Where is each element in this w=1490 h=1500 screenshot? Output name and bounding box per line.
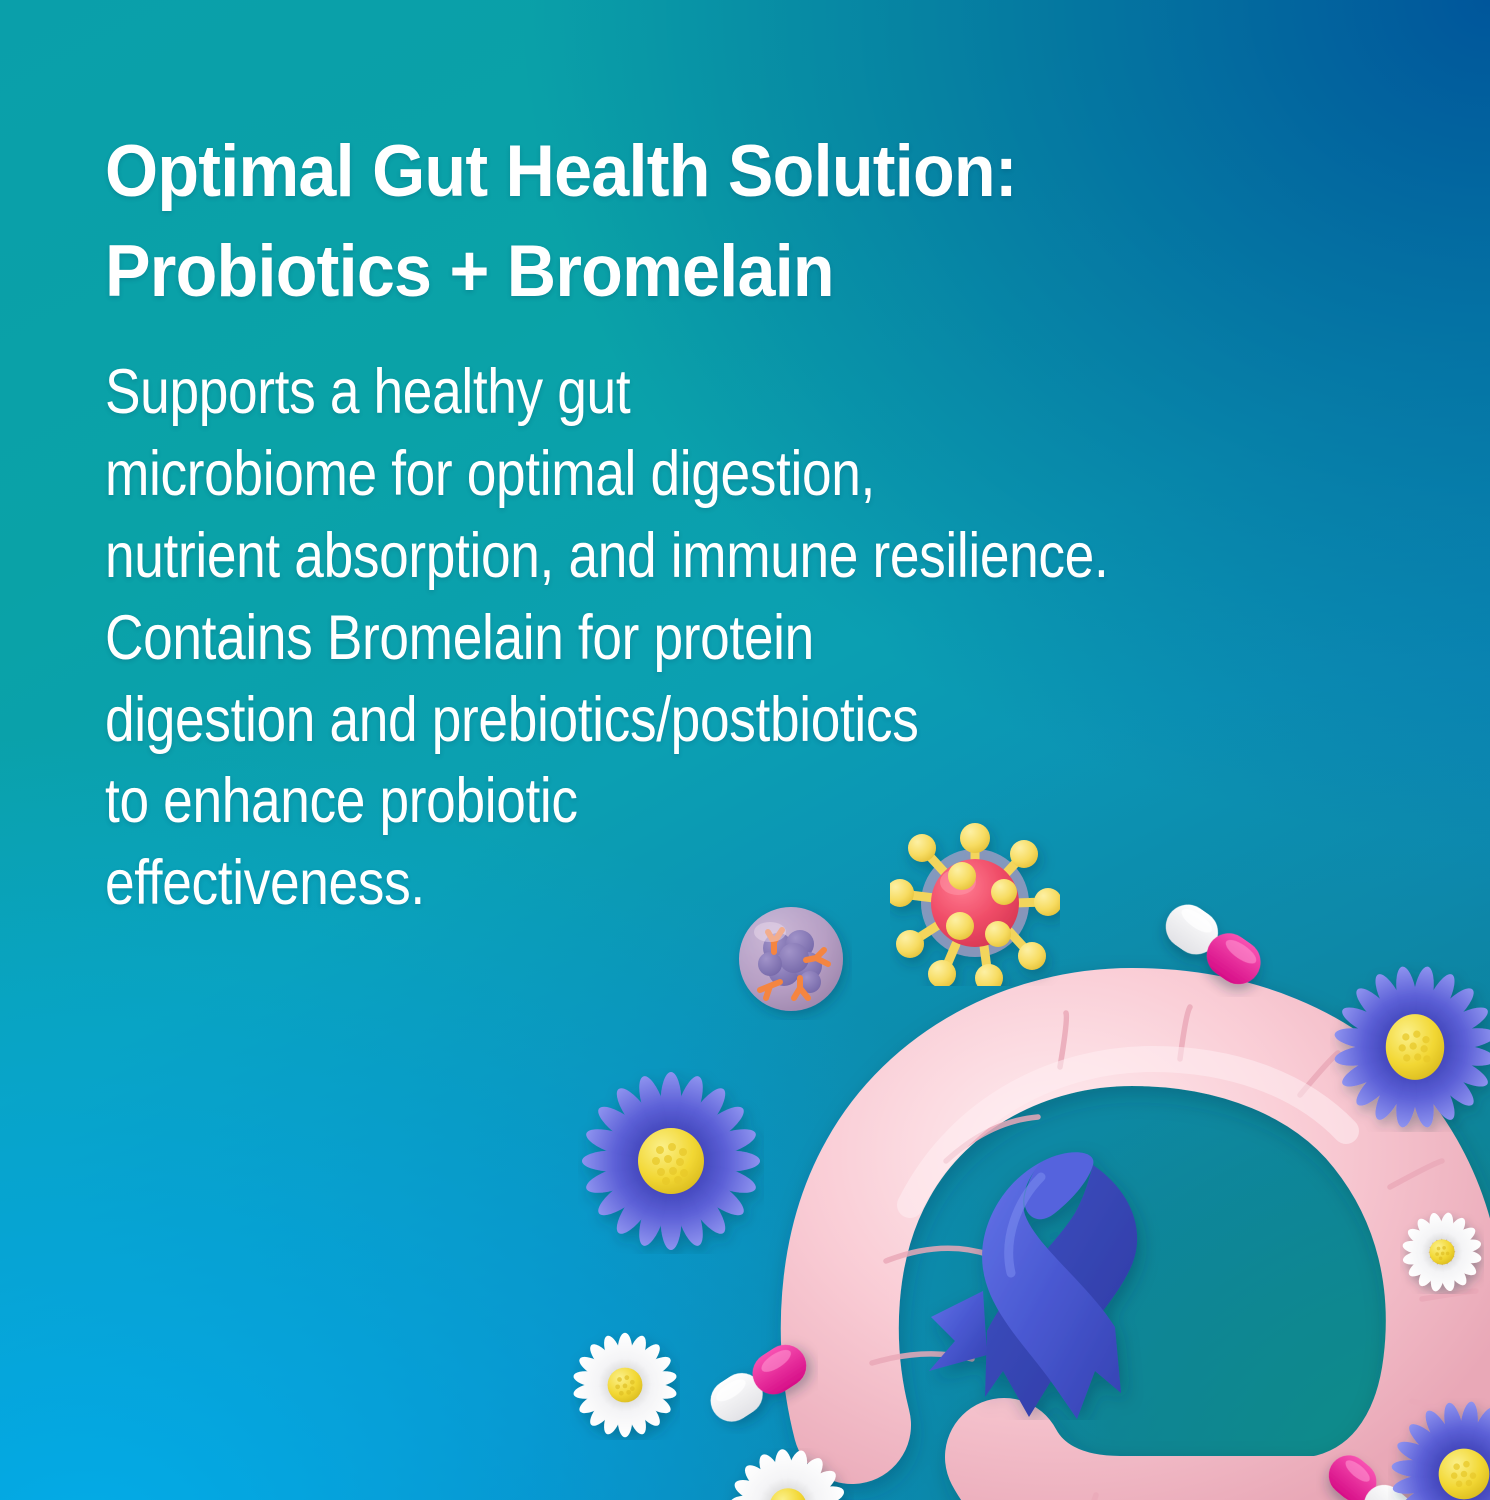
page-title: Optimal Gut Health Solution: Probiotics … (105, 122, 1339, 322)
blue-daisy-corner-illustration (1388, 1398, 1490, 1500)
awareness-ribbon-illustration (925, 1135, 1185, 1420)
product-feature-banner: Optimal Gut Health Solution: Probiotics … (0, 0, 1490, 1500)
copy-block: Optimal Gut Health Solution: Probiotics … (105, 122, 1425, 925)
blue-daisy-right-illustration (1330, 962, 1490, 1132)
blue-daisy-left-illustration (578, 1068, 764, 1254)
white-daisy-right-illustration (1400, 1210, 1484, 1294)
white-daisy-left-illustration (570, 1330, 680, 1440)
capsule-pill-bottom-illustration (700, 1334, 818, 1434)
product-description: Supports a healthy gut microbiome for op… (105, 352, 1220, 925)
white-daisy-bottom-illustration (722, 1448, 854, 1500)
